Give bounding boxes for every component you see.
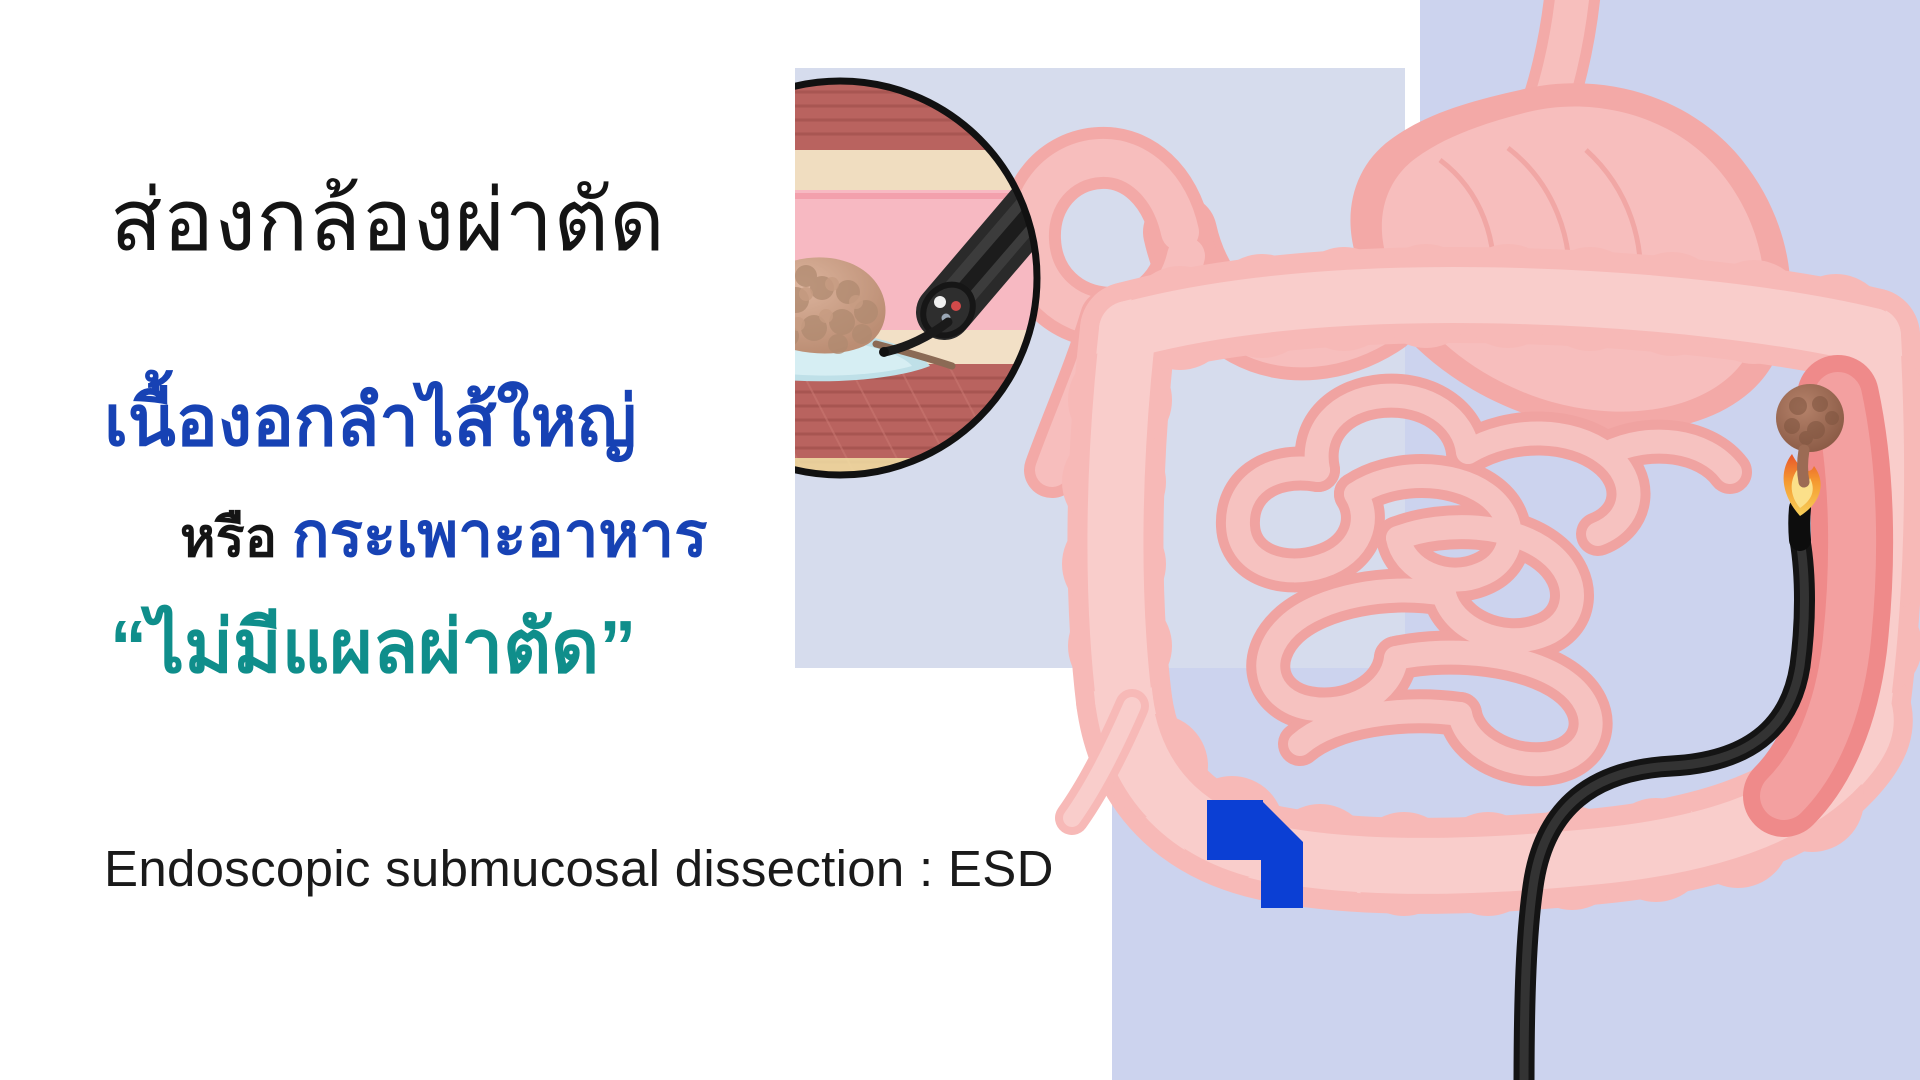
page-title: ส่องกล้องผ่าตัด <box>110 178 665 264</box>
organ-line-stomach: กระเพาะอาหาร <box>292 501 707 570</box>
or-conjunction: หรือ <box>180 508 277 568</box>
corner-arrow-logo-icon <box>1205 798 1305 910</box>
organ-alternative-line: หรือ กระเพาะอาหาร <box>180 505 707 567</box>
text-column: ส่องกล้องผ่าตัด เนื้องอกลำไส้ใหญ่ หรือ ก… <box>0 0 900 1080</box>
english-caption: Endoscopic submucosal dissection : ESD <box>104 843 1054 894</box>
poster-canvas: ส่องกล้องผ่าตัด เนื้องอกลำไส้ใหญ่ หรือ ก… <box>0 0 1920 1080</box>
organ-line-colon: เนื้องอกลำไส้ใหญ่ <box>104 386 637 456</box>
benefit-quote: “ไม่มีแผลผ่าตัด” <box>110 610 636 684</box>
